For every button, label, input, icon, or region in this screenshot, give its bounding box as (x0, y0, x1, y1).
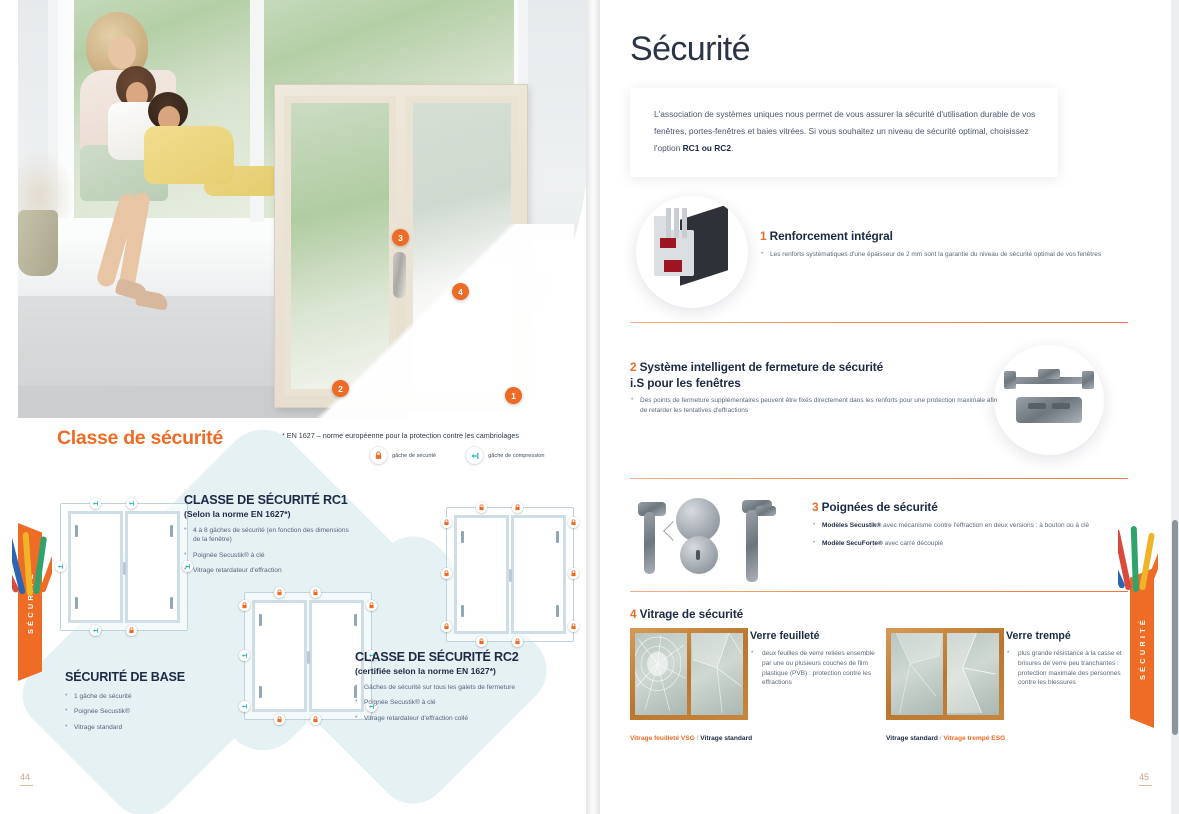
side-tab-right[interactable]: SÉCURITÉ (1130, 568, 1154, 728)
class-box-rc1: CLASSE DE SÉCURITÉ RC1 (Selon la norme E… (184, 493, 349, 581)
section-1: 1 Renforcement intégral Les renforts sys… (760, 229, 1142, 259)
divider-1 (630, 322, 1128, 323)
section-bullet: Modèle SecuForte® avec carré découplé (812, 539, 1142, 549)
marker-lock (366, 600, 377, 611)
glass-caption-tempered: Vitrage standard / Vitrage trempé ESG (886, 735, 1005, 742)
box-bullet: Poignée Secustik® (65, 707, 215, 716)
marker-lock (274, 587, 285, 598)
section-title: Vitrage de sécurité (640, 607, 743, 621)
catalog-spread: 3 4 2 1 Classe de sécurité * EN 1627 – n… (0, 0, 1172, 814)
marker-lock (441, 517, 452, 528)
marker-lock (239, 600, 250, 611)
security-class-title: Classe de sécurité (57, 427, 223, 450)
glass-info-laminated: Verre feuilleté deux feuilles de verre r… (750, 630, 880, 688)
section-3: 3 Poignées de sécurité Modèles Secustik®… (812, 500, 1142, 549)
schematic-base (60, 503, 188, 631)
marker-lock (568, 621, 579, 632)
box-bullet: Vitrage retardateur d'effraction (184, 566, 349, 575)
section-2: 2 Système intelligent de fermeture de sé… (630, 360, 1000, 416)
section-4: 4 Vitrage de sécurité (630, 607, 1142, 623)
page-number-right: 45 (1139, 772, 1152, 786)
feather-decoration-right (1118, 520, 1158, 592)
box-bullet: 1 gâche de sécurité (65, 692, 215, 701)
section-number: 4 (630, 607, 636, 621)
scrollbar-thumb[interactable] (1172, 520, 1178, 735)
box-bullet: Gâches de sécurité sur tous les galets d… (355, 683, 540, 692)
caption-left: Vitrage standard (886, 735, 938, 742)
marker-compression (55, 561, 66, 572)
section-bullet: Modèles Secustik® avec mécanisme contre … (812, 521, 1142, 531)
page-number-left: 44 (20, 772, 33, 786)
box-bullet: 4 à 8 gâches de sécurité (en fonction de… (184, 526, 349, 545)
marker-lock (126, 625, 137, 636)
profile-reinforcement-image (636, 196, 748, 308)
intro-tail: . (731, 143, 733, 153)
marker-lock (568, 568, 579, 579)
marker-lock (310, 587, 321, 598)
class-box-rc2: CLASSE DE SÉCURITÉ RC2 (certifiée selon … (355, 650, 540, 729)
box-bullet: Vitrage retardateur d'effraction collé (355, 714, 540, 723)
callout-2[interactable]: 2 (332, 380, 349, 397)
bullet-text: avec mécanisme contre l'effraction en de… (881, 522, 1089, 529)
marker-lock (274, 714, 285, 725)
marker-compression (90, 625, 101, 636)
box-subtitle: (certifiée selon la norme EN 1627*) (355, 666, 540, 676)
glass-name: Verre trempé (1006, 630, 1130, 642)
glass-caption-laminated: Vitrage feuilleté VSG / Vitrage standard (630, 735, 752, 742)
left-page: 3 4 2 1 Classe de sécurité * EN 1627 – n… (0, 0, 586, 814)
marker-compression (90, 498, 101, 509)
class-box-base: SÉCURITÉ DE BASE 1 gâche de sécurité Poi… (65, 670, 215, 738)
box-subtitle: (Selon la norme EN 1627*) (184, 509, 349, 519)
security-class-diagram: CLASSE DE SÉCURITÉ RC1 (Selon la norme E… (18, 455, 586, 785)
glass-sample-tempered (886, 628, 1004, 720)
marker-lock (441, 621, 452, 632)
bullet-bold: Modèles Secustik® (822, 522, 881, 529)
marker-lock (568, 517, 579, 528)
scrollbar-track[interactable] (1171, 0, 1179, 814)
glass-name: Verre feuilleté (750, 630, 880, 642)
marker-compression (239, 650, 250, 661)
section-number: 1 (760, 229, 766, 243)
section-title-line1: Système intelligent de fermeture de sécu… (640, 360, 883, 374)
marker-lock (310, 714, 321, 725)
caption-left: Vitrage feuilleté VSG (630, 735, 695, 742)
callout-4[interactable]: 4 (452, 283, 469, 300)
marker-lock (441, 568, 452, 579)
viewer-canvas: 3 4 2 1 Classe de sécurité * EN 1627 – n… (0, 0, 1179, 814)
section-title-line2: i.S pour les fenêtres (630, 376, 741, 390)
callout-1[interactable]: 1 (505, 387, 522, 404)
marker-lock (512, 502, 523, 513)
bullet-bold: Modèle SecuForte® (822, 540, 883, 547)
schematic-rc2 (446, 507, 574, 642)
caption-right: Vitrage trempé ESG (943, 735, 1005, 742)
window-handle (393, 252, 406, 298)
handles-image (630, 496, 810, 586)
box-bullet: Poignée Secustik® à clé (355, 698, 540, 707)
box-title: CLASSE DE SÉCURITÉ RC1 (184, 493, 349, 508)
box-bullet: Vitrage standard (65, 723, 215, 732)
locking-system-image (994, 345, 1104, 455)
section-number: 2 (630, 360, 636, 374)
callout-3[interactable]: 3 (392, 229, 409, 246)
marker-lock (512, 636, 523, 647)
marker-lock (476, 502, 487, 513)
marker-compression (126, 498, 137, 509)
schematic-rc1 (244, 592, 372, 720)
en1627-footnote: * EN 1627 – norme européenne pour la pro… (282, 431, 519, 440)
page-gutter (586, 0, 600, 814)
section-bullet: Des points de fermeture supplémentaires … (630, 396, 1000, 416)
feather-decoration-left (12, 524, 52, 596)
glass-info-tempered: Verre trempé plus grande résistance à la… (1006, 630, 1130, 688)
section-bullet: Les renforts systématiques d'une épaisse… (760, 250, 1142, 260)
product-window-render: 3 4 2 1 (274, 84, 528, 408)
divider-2 (630, 478, 1128, 479)
section-title: Renforcement intégral (770, 229, 893, 243)
box-title: SÉCURITÉ DE BASE (65, 670, 215, 685)
section-title: Poignées de sécurité (822, 500, 938, 514)
caption-right: Vitrage standard (700, 735, 752, 742)
intro-card: L'association de systèmes uniques nous p… (630, 88, 1058, 177)
glass-bullet: deux feuilles de verre reliées ensemble … (750, 649, 880, 688)
box-title: CLASSE DE SÉCURITÉ RC2 (355, 650, 540, 665)
marker-lock (476, 636, 487, 647)
side-tab-label: SÉCURITÉ (1138, 617, 1147, 680)
lifestyle-photo: 3 4 2 1 (18, 0, 586, 418)
intro-highlight: RC1 ou RC2 (683, 143, 731, 153)
section-number: 3 (812, 500, 818, 514)
box-bullet: Poignée Secustik® à clé (184, 551, 349, 560)
page-title: Sécurité (630, 30, 750, 69)
bullet-text: avec carré découplé (883, 540, 943, 547)
glass-sample-laminated (630, 628, 748, 720)
marker-compression (239, 701, 250, 712)
right-page: Sécurité L'association de systèmes uniqu… (600, 0, 1172, 814)
divider-3 (630, 591, 1128, 592)
glass-bullet: plus grande résistance à la casse et bri… (1006, 649, 1130, 688)
